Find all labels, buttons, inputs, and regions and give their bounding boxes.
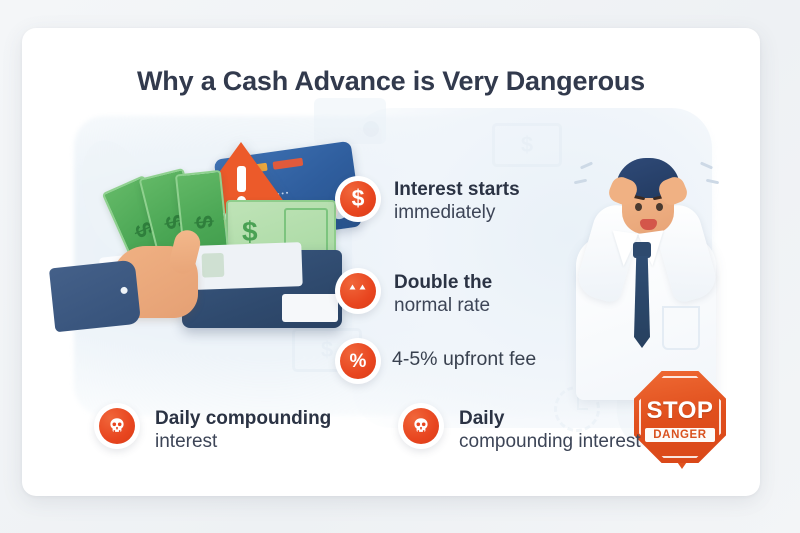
bullet-4-line2: interest [155,430,331,453]
percent-glyph: % [350,352,367,371]
double-up-arrow-icon [340,273,376,309]
infographic-card: •••• •••• •••• ••••••••• CAUTION [22,28,760,496]
suit-cuff-graphic [49,260,141,333]
bullet-1-line1: Interest starts [394,178,520,201]
danger-label: DANGER [653,429,706,441]
bullet-icon-badge-4 [94,403,140,449]
skull-icon [99,408,135,444]
dollar-glyph: $ [352,187,365,210]
bullet-text-3: 4-5% upfront fee [392,348,536,372]
percent-icon: % [340,343,376,379]
exclamation-icon [237,166,246,192]
bullet-text-1: Interest starts immediately [394,178,520,224]
right-illustration [550,120,740,400]
bullet-4-line1: Daily compounding [155,407,331,430]
bullet-icon-badge-5 [398,403,444,449]
infographic-page: •••• •••• •••• ••••••••• CAUTION [0,0,800,533]
bullet-2-line1: Double the [394,271,492,294]
bullet-text-5: Daily compounding interest [459,407,641,453]
bullet-5-line2: compounding interest [459,430,641,453]
shirt-pocket-graphic [662,306,700,350]
necktie-graphic [634,256,650,348]
bullet-text-4: Daily compounding interest [155,407,331,453]
wallet-graphic [182,250,342,328]
bullet-icon-badge-3: % [335,338,381,384]
bullet-1-line2: immediately [394,201,520,224]
bullet-2-line2: normal rate [394,294,492,317]
bullet-text-2: Double the normal rate [394,271,492,317]
bullet-5-line1: Daily [459,407,641,430]
skull-icon [403,408,439,444]
left-illustration: •••• •••• •••• ••••••••• CAUTION [74,128,364,398]
dollar-sign-icon: $ [340,181,376,217]
stop-label: STOP [647,397,714,425]
bullet-icon-badge-1: $ [335,176,381,222]
page-title: Why a Cash Advance is Very Dangerous [22,66,760,97]
bullet-icon-badge-2 [335,268,381,314]
